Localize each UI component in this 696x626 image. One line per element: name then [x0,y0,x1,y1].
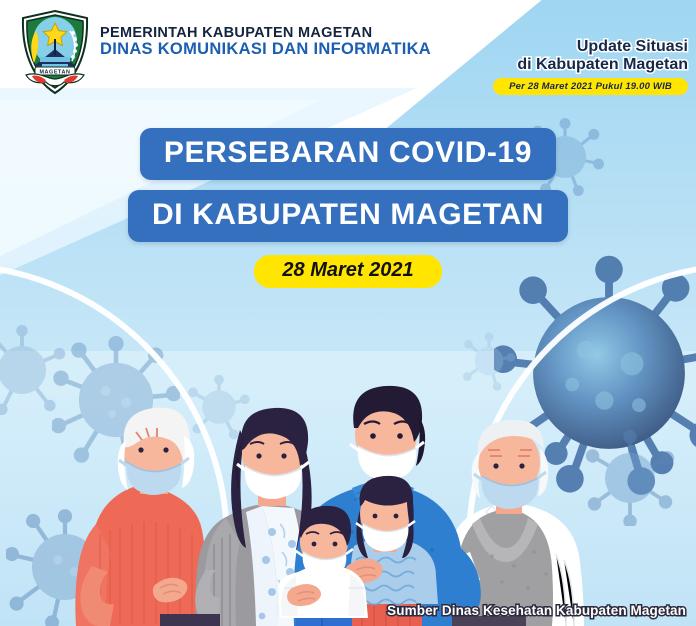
update-timestamp-badge: Per 28 Maret 2021 Pukul 19.00 WIB [493,78,688,95]
covid-poster: MAGETAN PEMERINTAH KABUPATEN MAGETAN DIN… [0,0,696,626]
family-illustration [0,366,696,626]
magetan-regency-coat-of-arms-icon: MAGETAN [18,9,92,95]
government-name-line2: DINAS KOMUNIKASI DAN INFORMATIKA [100,41,431,58]
government-name-line1: PEMERINTAH KABUPATEN MAGETAN [100,26,431,41]
title-banner-line1: PERSEBARAN COVID-19 [140,128,556,180]
title-banner-line2: DI KABUPATEN MAGETAN [128,190,568,242]
title-date-pill: 28 Maret 2021 [254,255,441,288]
svg-text:MAGETAN: MAGETAN [39,69,70,75]
poster-title-block: PERSEBARAN COVID-19 DI KABUPATEN MAGETAN… [0,128,696,288]
figure-elderly-woman [75,408,205,626]
poster-header: MAGETAN PEMERINTAH KABUPATEN MAGETAN DIN… [0,0,696,104]
update-title-line1: Update Situasi [493,38,688,56]
government-title-group: PEMERINTAH KABUPATEN MAGETAN DINAS KOMUN… [100,26,431,58]
source-attribution: Sumber Dinas Kesehatan Kabupaten Magetan [387,603,686,618]
update-title-line2: di Kabupaten Magetan [493,56,688,74]
update-status-group: Update Situasi di Kabupaten Magetan Per … [493,38,688,95]
